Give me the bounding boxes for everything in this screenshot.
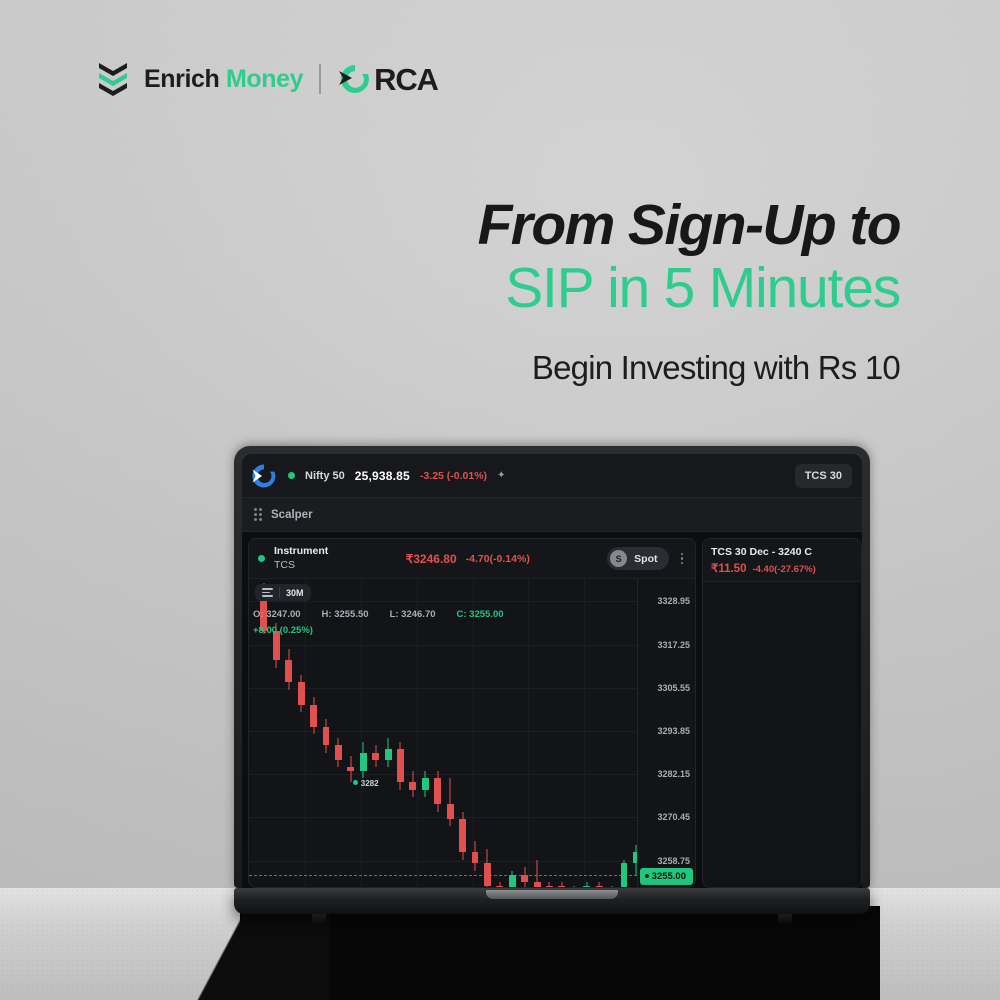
candlestick [434, 579, 441, 887]
money-text: Money [226, 65, 303, 93]
price-axis-tick: 3305.55 [657, 683, 690, 693]
candlestick [484, 579, 491, 887]
price-marker-label: 3282 [361, 779, 379, 788]
candlestick [509, 579, 516, 887]
ohlc-delta: +8.00 (0.25%) [253, 625, 313, 636]
price-axis-tick: 3293.85 [657, 726, 690, 736]
main-chart-panel: Instrument TCS ₹3246.80 -4.70(-0.14%) S … [248, 538, 696, 888]
laptop-base-notch [486, 890, 618, 899]
price-axis-tick: 3317.25 [657, 640, 690, 650]
spot-toggle[interactable]: S Spot [607, 547, 668, 570]
orca-mark-icon [337, 62, 373, 96]
side-panel-header: TCS 30 Dec - 3240 C ₹11.50 -4.40(-27.67%… [703, 539, 861, 582]
orca-app-icon[interactable] [250, 462, 278, 490]
price-axis-tick: 3270.45 [657, 812, 690, 822]
price-axis-tick: 3282.15 [657, 769, 690, 779]
candlestick [422, 579, 429, 887]
candlestick [608, 579, 615, 887]
timeframe-value: 30M [286, 588, 304, 598]
candlestick [385, 579, 392, 887]
candlestick [596, 579, 603, 887]
candlestick [323, 579, 330, 887]
side-chart-panel: TCS 30 Dec - 3240 C ₹11.50 -4.40(-27.67%… [702, 538, 862, 888]
scalper-bar: Scalper [242, 498, 862, 532]
instrument-price: ₹3246.80 [406, 552, 457, 566]
candlestick [621, 579, 628, 887]
headline-line-1: From Sign-Up to [478, 196, 900, 255]
laptop-mockup: Nifty 50 25,938.85 -3.25 (-0.01%) ✦ TCS … [234, 446, 870, 914]
candlestick [372, 579, 379, 887]
ohlc-open: O: 3247.00 [253, 609, 301, 620]
spot-toggle-knob: S [610, 550, 627, 567]
candlestick [397, 579, 404, 887]
side-panel-edge-fade [855, 582, 861, 887]
pedestal-diagonal-shadow [150, 906, 330, 1000]
brand-divider [319, 64, 321, 94]
side-change: -4.40(-27.67%) [752, 564, 815, 575]
ohlc-close: C: 3255.00 [457, 609, 504, 620]
enrich-chevron-icon [98, 62, 128, 96]
price-axis[interactable]: 3255.00 3328.953317.253305.553293.853282… [637, 579, 695, 887]
ohlc-row: O: 3247.00 H: 3255.50 L: 3246.70 C: 3255… [253, 609, 504, 620]
main-chart-plot[interactable]: 30M O: 3247.00 H: 3255.50 L: 3246.70 C: … [249, 579, 637, 887]
last-price-dashed-line [249, 875, 637, 876]
index-name: Nifty 50 [305, 470, 345, 482]
candlestick [472, 579, 479, 887]
enrich-money-wordmark: Enrich Money [144, 67, 303, 92]
candlestick [633, 579, 637, 887]
instrument-info[interactable]: Instrument TCS [274, 545, 328, 571]
laptop-lid: Nifty 50 25,938.85 -3.25 (-0.01%) ✦ TCS … [234, 446, 870, 888]
headline-subtitle: Begin Investing with Rs 10 [478, 349, 900, 387]
laptop-foot-left [312, 914, 326, 924]
instrument-change: -4.70(-0.14%) [466, 553, 530, 565]
drag-grip-icon[interactable] [254, 508, 262, 521]
candlestick [409, 579, 416, 887]
candlestick [571, 579, 578, 887]
headline-line-2: SIP in 5 Minutes [478, 257, 900, 321]
app-topbar: Nifty 50 25,938.85 -3.25 (-0.01%) ✦ TCS … [242, 454, 862, 498]
candlestick [521, 579, 528, 887]
candlestick [558, 579, 565, 887]
price-axis-tick: 3258.75 [657, 856, 690, 866]
main-chart-body[interactable]: 30M O: 3247.00 H: 3255.50 L: 3246.70 C: … [249, 579, 695, 887]
brand-lockup: Enrich Money RCA [98, 62, 438, 96]
candlestick [447, 579, 454, 887]
chart-settings-icon[interactable] [262, 588, 273, 597]
price-axis-tick: 3328.95 [657, 596, 690, 606]
index-status-dot [288, 472, 295, 479]
ohlc-low: L: 3246.70 [390, 609, 436, 620]
index-change: -3.25 (-0.01%) [420, 470, 487, 482]
kebab-menu-icon[interactable] [678, 551, 687, 567]
main-panel-header: Instrument TCS ₹3246.80 -4.70(-0.14%) S … [249, 539, 695, 579]
scalper-title: Scalper [271, 509, 313, 521]
candlestick [534, 579, 541, 887]
candlestick [496, 579, 503, 887]
laptop-base [234, 888, 870, 914]
side-instrument-title: TCS 30 Dec - 3240 C [711, 546, 853, 558]
candlestick [347, 579, 354, 887]
timeframe-separator [279, 587, 280, 598]
side-quote: ₹11.50 -4.40(-27.67%) [711, 561, 853, 575]
spot-toggle-label: Spot [634, 553, 657, 565]
candlestick [360, 579, 367, 887]
ohlc-high: H: 3255.50 [322, 609, 369, 620]
candlestick [546, 579, 553, 887]
last-price-badge: 3255.00 [640, 868, 693, 885]
timeframe-selector[interactable]: 30M [255, 584, 311, 601]
laptop-foot-right [778, 914, 792, 924]
enrich-text: Enrich [144, 65, 219, 93]
instrument-symbol: TCS [274, 559, 328, 572]
instrument-status-dot [258, 555, 265, 562]
instrument-label: Instrument [274, 545, 328, 558]
workspace: Instrument TCS ₹3246.80 -4.70(-0.14%) S … [242, 532, 862, 888]
candlestick [583, 579, 590, 887]
pin-icon[interactable]: ✦ [497, 470, 505, 481]
index-value: 25,938.85 [355, 469, 410, 483]
orca-wordmark: RCA [374, 64, 438, 95]
tab-tcs-30[interactable]: TCS 30 [795, 464, 852, 488]
side-price: ₹11.50 [711, 561, 746, 575]
laptop-screen: Nifty 50 25,938.85 -3.25 (-0.01%) ✦ TCS … [242, 454, 862, 888]
orca-logo: RCA [337, 62, 438, 96]
candlestick [335, 579, 342, 887]
candlestick [459, 579, 466, 887]
side-chart-body[interactable]: 30M O: 0.50 H: 11.50 +11.00 (2200.00%) 4… [703, 582, 861, 887]
headline-block: From Sign-Up to SIP in 5 Minutes Begin I… [478, 196, 900, 387]
